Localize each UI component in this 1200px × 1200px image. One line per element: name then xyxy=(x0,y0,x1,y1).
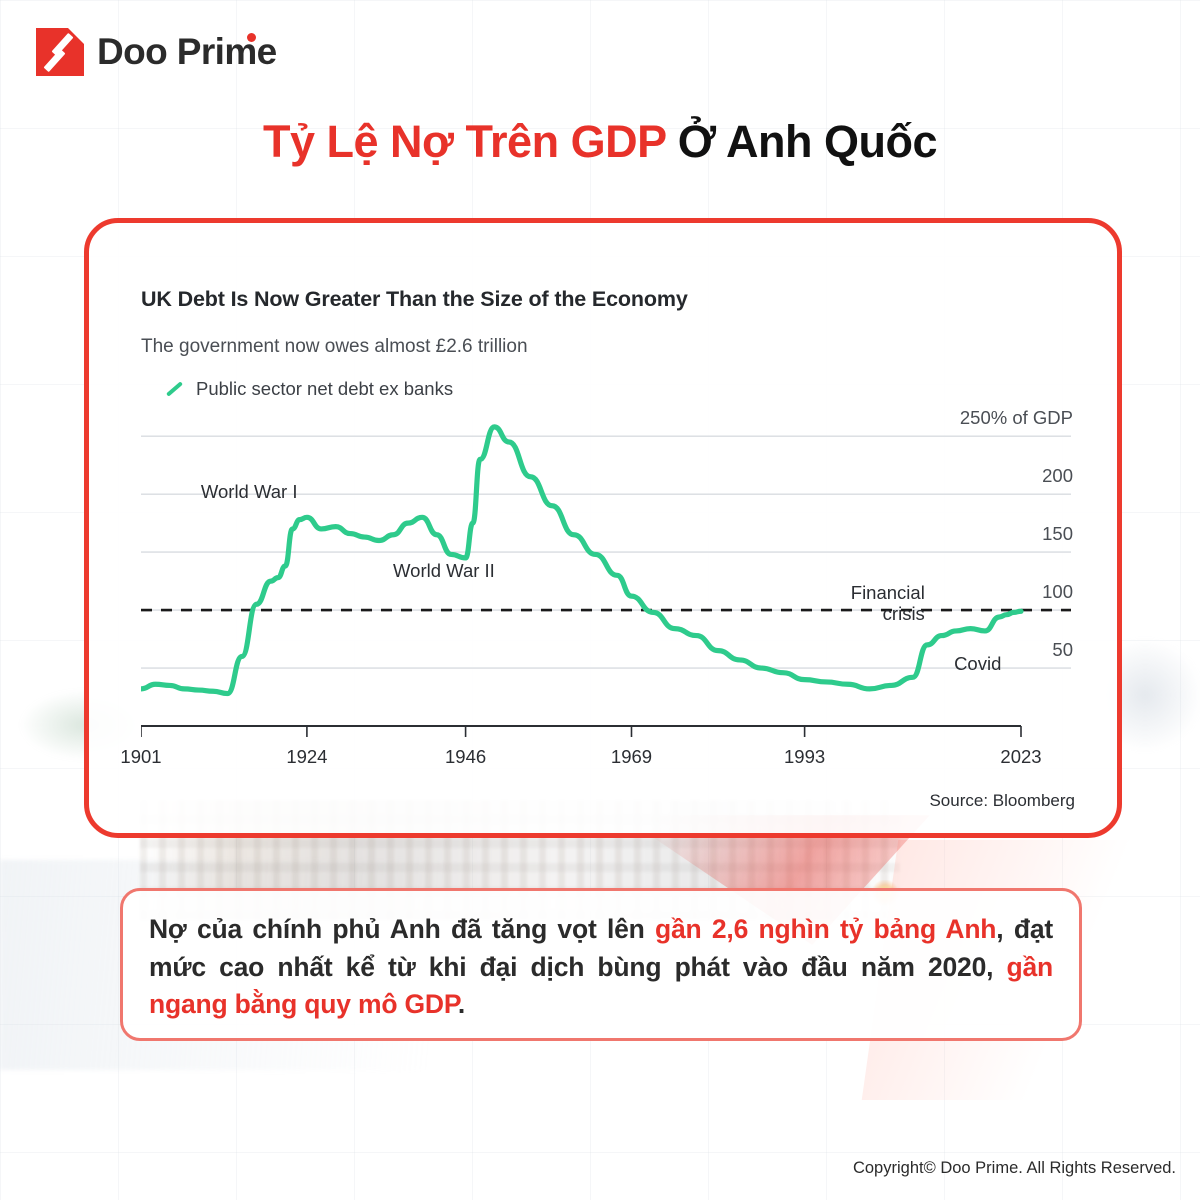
chart-card: UK Debt Is Now Greater Than the Size of … xyxy=(84,218,1122,838)
chart-series-line xyxy=(141,427,1021,694)
chart-x-axis-label: 1993 xyxy=(784,746,825,768)
chart-legend: Public sector net debt ex banks xyxy=(165,378,453,400)
footer-copyright: Copyright© Doo Prime. All Rights Reserve… xyxy=(853,1159,1176,1178)
page-title: Tỷ Lệ Nợ Trên GDP Ở Anh Quốc xyxy=(0,116,1200,168)
chart-annotation: World War I xyxy=(201,481,298,503)
chart-y-axis-label: 150 xyxy=(1042,523,1073,545)
chart-annotation: Covid xyxy=(954,653,1001,675)
caption-text: Nợ của chính phủ Anh đã tăng vọt lên gần… xyxy=(149,911,1053,1024)
chart-gridlines xyxy=(141,436,1071,668)
chart-source: Source: Bloomberg xyxy=(929,791,1075,811)
chart-title: UK Debt Is Now Greater Than the Size of … xyxy=(141,287,688,312)
chart-annotation-line: crisis xyxy=(851,604,925,625)
chart-subtitle: The government now owes almost £2.6 tril… xyxy=(141,336,528,358)
chart-svg xyxy=(141,413,1071,758)
legend-item-label: Public sector net debt ex banks xyxy=(196,378,453,400)
chart-annotation-line: Financial xyxy=(851,583,925,604)
chart-y-axis-label: 200 xyxy=(1042,465,1073,487)
brand-name: Doo Prime xyxy=(97,31,277,73)
caption-highlight-1: gần 2,6 nghìn tỷ bảng Anh xyxy=(655,914,996,944)
chart-annotation: World War II xyxy=(393,560,495,582)
chart-x-axis-label: 1901 xyxy=(120,746,161,768)
chart-x-axis-label: 1946 xyxy=(445,746,486,768)
chart-x-tickmarks xyxy=(141,726,1021,737)
chart-y-axis-label: 50 xyxy=(1052,639,1073,661)
chart-y-axis-label: 250% of GDP xyxy=(960,407,1073,429)
legend-line-icon xyxy=(166,381,183,396)
doo-prime-logo-icon xyxy=(36,28,84,76)
chart-x-axis-label: 2023 xyxy=(1000,746,1041,768)
page-title-black: Ở Anh Quốc xyxy=(666,116,937,167)
chart-y-axis-label: 100 xyxy=(1042,581,1073,603)
page-title-red: Tỷ Lệ Nợ Trên GDP xyxy=(263,116,666,167)
chart-x-axis-label: 1969 xyxy=(611,746,652,768)
brand-logo: Doo Prime xyxy=(36,28,277,76)
chart-x-axis-label: 1924 xyxy=(286,746,327,768)
caption-segment-1: Nợ của chính phủ Anh đã tăng vọt lên xyxy=(149,914,655,944)
chart-annotation: Financialcrisis xyxy=(851,583,925,624)
caption-segment-3: . xyxy=(458,989,465,1019)
chart-plot-area: 250% of GDP20015010050 19011924194619691… xyxy=(141,413,1071,758)
caption-card: Nợ của chính phủ Anh đã tăng vọt lên gần… xyxy=(120,888,1082,1041)
brand-dot-icon xyxy=(247,33,256,42)
